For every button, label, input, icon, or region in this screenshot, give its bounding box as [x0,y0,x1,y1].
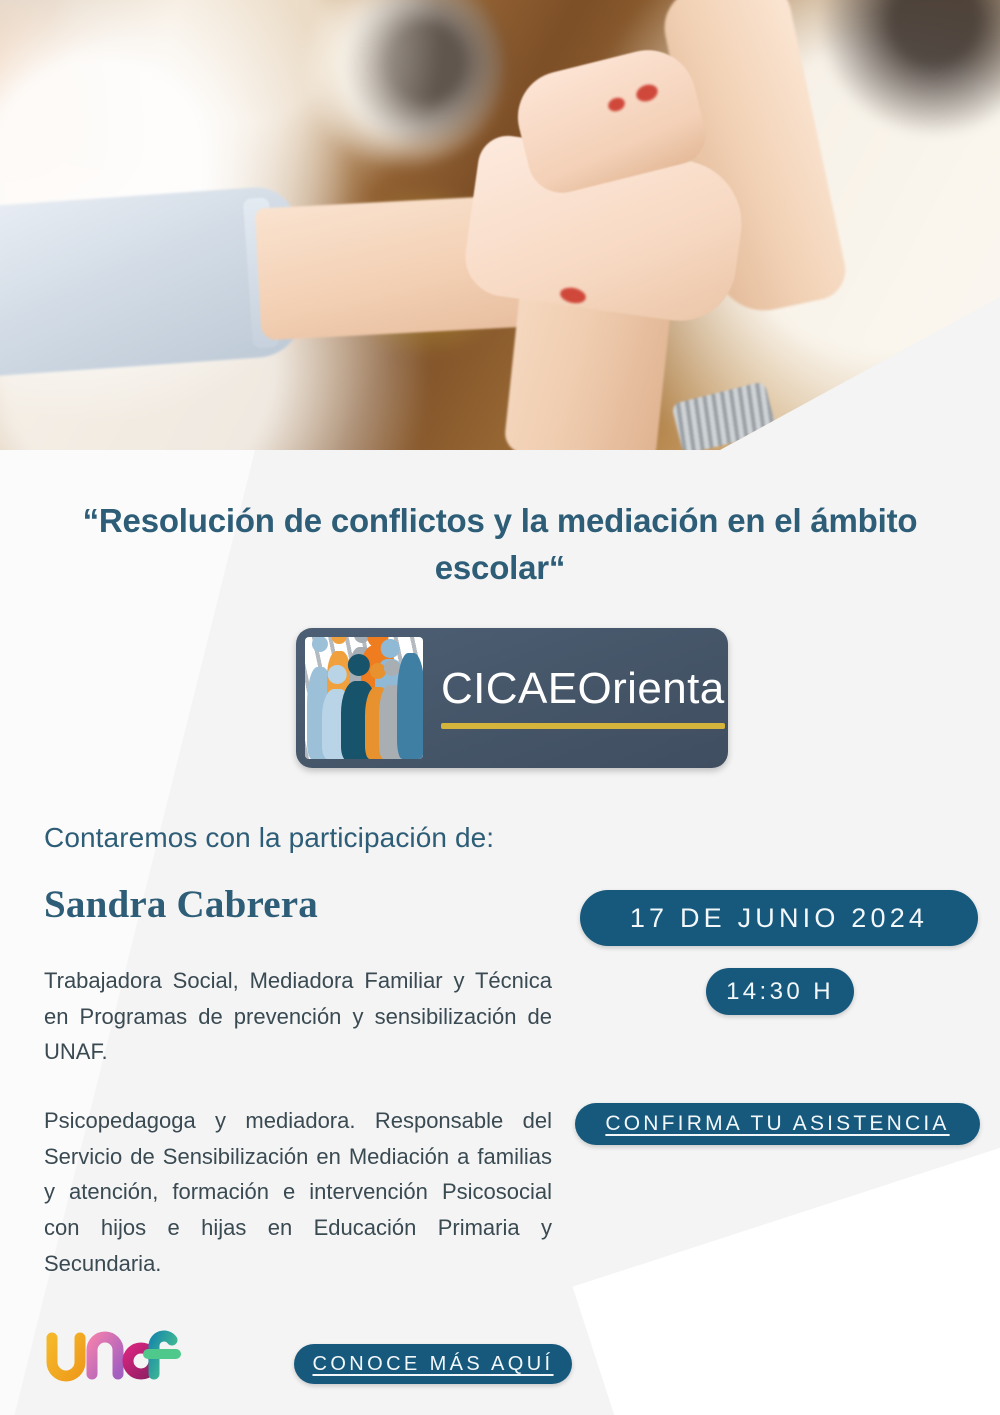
silhouettes-artwork-icon [305,637,423,759]
brand-text-block: CICAEOrienta [423,667,731,729]
speaker-bio-paragraph-2: Psicopedagoga y mediadora. Responsable d… [44,1103,552,1281]
speaker-bio-paragraph-1: Trabajadora Social, Mediadora Familiar y… [44,963,552,1070]
event-poster: “Resolución de conflictos y la mediación… [0,0,1000,1415]
speaker-name: Sandra Cabrera [44,882,318,927]
diagonal-accent-right [573,1126,1000,1415]
hands-together-photo [0,0,1000,450]
event-time-badge: 14:30 H [706,968,854,1015]
event-date-badge: 17 DE JUNIO 2024 [580,890,978,946]
cicaeorienta-logo: CICAEOrienta [296,628,728,768]
page-title: “Resolución de conflictos y la mediación… [60,498,940,592]
unaf-logo [44,1328,204,1400]
participation-intro: Contaremos con la participación de: [44,822,494,854]
confirm-attendance-button[interactable]: CONFIRMA TU ASISTENCIA [575,1103,980,1145]
brand-underline [441,723,725,729]
learn-more-button[interactable]: CONOCE MÁS AQUÍ [294,1344,572,1384]
brand-name: CICAEOrienta [441,667,725,711]
unaf-wordmark-icon [44,1328,204,1388]
silhouette-figure [397,653,423,759]
